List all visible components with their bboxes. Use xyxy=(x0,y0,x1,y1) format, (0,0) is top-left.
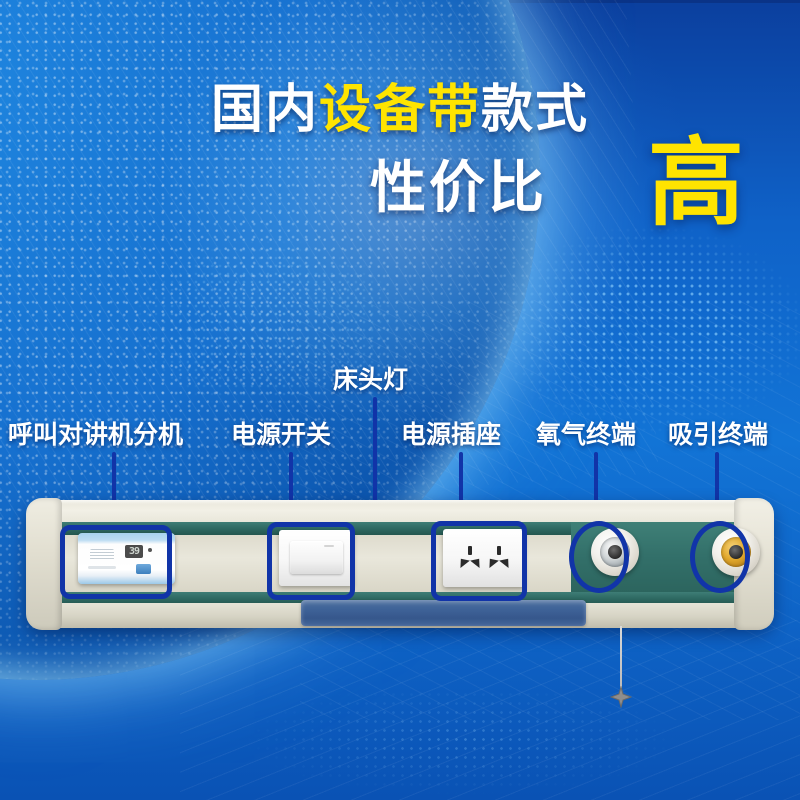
dotted-pattern-bottom xyxy=(200,690,720,800)
callout-label-intercom: 呼叫对讲机分机 xyxy=(8,415,183,451)
callout-label-oxygen: 氧气终端 xyxy=(536,415,636,451)
light-streaks-lower xyxy=(180,620,800,800)
callout-label-socket: 电源插座 xyxy=(401,415,501,451)
highlight-box-oxygen xyxy=(569,521,629,593)
callout-label-bed-lamp: 床头灯 xyxy=(333,360,408,396)
callout-label-suction: 吸引终端 xyxy=(668,415,768,451)
highlight-box-suction xyxy=(690,521,750,593)
callout-label-switch: 电源开关 xyxy=(231,415,331,451)
bed-lamp-diffuser[interactable] xyxy=(301,600,586,626)
highlight-box-intercom xyxy=(60,525,172,599)
pull-cord-weight-icon xyxy=(610,686,632,708)
highlight-box-socket xyxy=(431,521,527,601)
pull-cord[interactable] xyxy=(620,626,622,690)
promo-banner: 国内设备带款式 性价比 高 呼叫对讲机分机 电源开关 床头灯 电源插座 氧气终端… xyxy=(0,0,800,800)
bhu-end-cap-left xyxy=(26,498,62,630)
highlight-box-switch xyxy=(267,522,355,600)
headline-emphasis-char: 高 xyxy=(648,136,744,232)
